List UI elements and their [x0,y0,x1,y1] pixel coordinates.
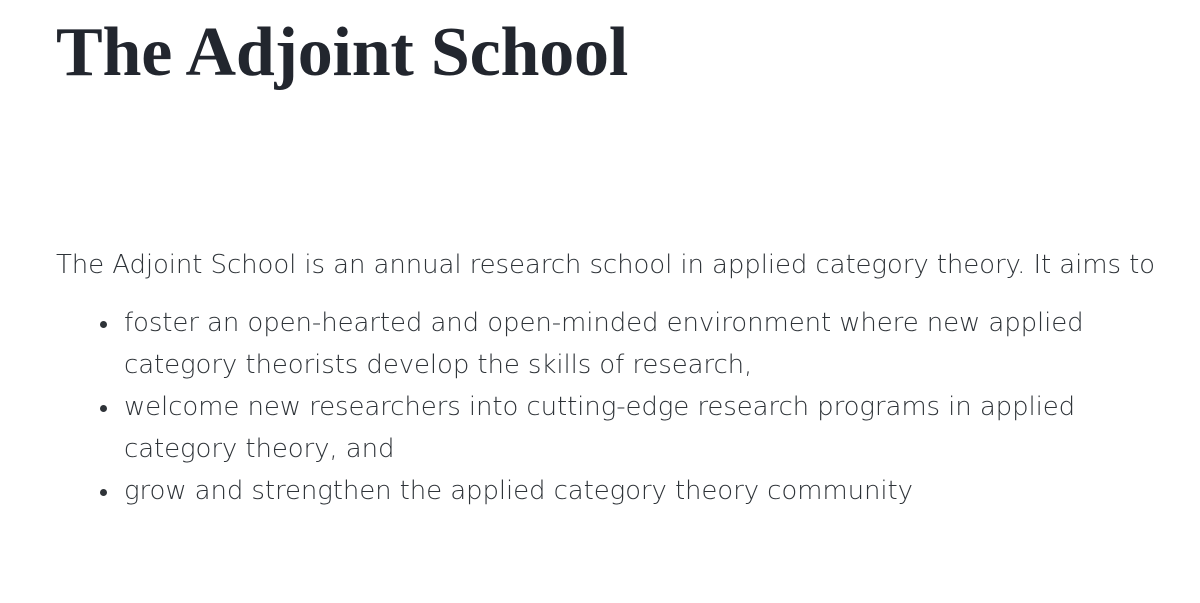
list-item-label: welcome new researchers into cutting-edg… [124,386,1124,470]
bullet-dot-icon [100,405,107,412]
bullet-dot-icon [100,321,107,328]
aims-list: foster an open-hearted and open-minded e… [56,302,1156,512]
list-item-label: foster an open-hearted and open-minded e… [124,302,1134,386]
intro-paragraph: The Adjoint School is an annual research… [56,244,1156,286]
list-item: foster an open-hearted and open-minded e… [56,302,1134,386]
list-item: grow and strengthen the applied category… [56,470,1134,512]
list-item-label: grow and strengthen the applied category… [124,470,1134,512]
page-root: The Adjoint School The Adjoint School is… [0,0,1200,603]
bullet-dot-icon [100,489,107,496]
content-body: The Adjoint School is an annual research… [56,244,1156,512]
page-title: The Adjoint School [56,14,628,91]
list-item: welcome new researchers into cutting-edg… [56,386,1124,470]
